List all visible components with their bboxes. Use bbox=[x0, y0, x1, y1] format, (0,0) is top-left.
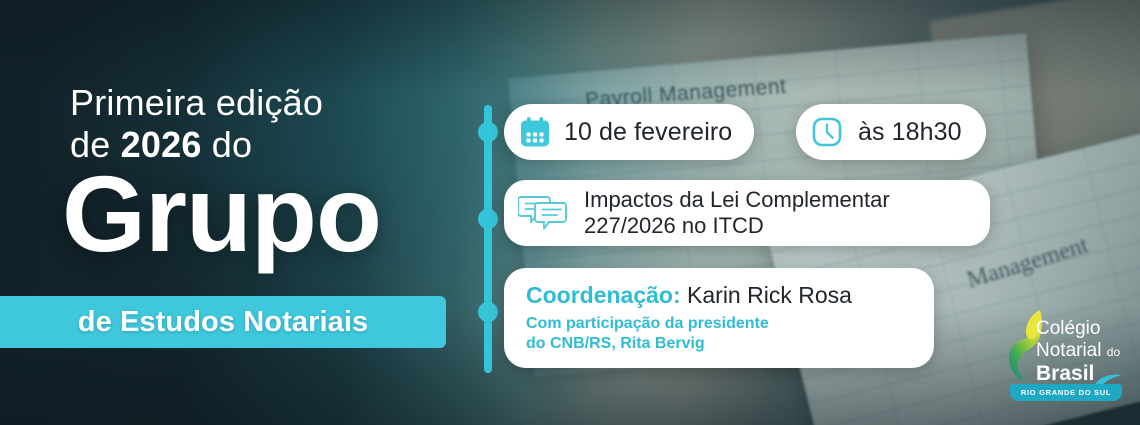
coordination-sub-line-1: Com participação da presidente bbox=[526, 314, 769, 334]
promo-banner: Payroll Management Management Primeira e… bbox=[0, 0, 1140, 425]
logo-line-2: Notarial do bbox=[1036, 340, 1120, 363]
clock-icon bbox=[810, 115, 844, 149]
headline-line-1: Primeira edição bbox=[70, 82, 323, 124]
logo-ribbon: RIO GRANDE DO SUL bbox=[1010, 384, 1122, 401]
time-pill-label: às 18h30 bbox=[858, 118, 962, 147]
subtitle-bar: de Estudos Notariais bbox=[0, 296, 446, 348]
subtitle-bar-label: de Estudos Notariais bbox=[78, 306, 368, 339]
date-pill: 10 de fevereiro bbox=[504, 104, 754, 160]
title-grupo: Grupo bbox=[62, 160, 381, 268]
logo-line-2-main: Notarial bbox=[1036, 340, 1101, 361]
chat-bubbles-icon bbox=[518, 192, 568, 234]
logo-line-2-small: do bbox=[1107, 345, 1120, 359]
logo-colegio-notarial: Colégio Notarial do Brasil RIO GRANDE DO… bbox=[1002, 306, 1130, 411]
coordination-label: Coordenação: bbox=[526, 282, 681, 308]
logo-line-1: Colégio bbox=[1036, 318, 1120, 340]
calendar-icon bbox=[518, 115, 552, 149]
timeline-dot-date bbox=[478, 122, 498, 142]
timeline-dot-topic bbox=[478, 209, 498, 229]
topic-pill-text: Impactos da Lei Complementar 227/2026 no… bbox=[584, 187, 890, 239]
topic-pill-line-1: Impactos da Lei Complementar bbox=[584, 187, 890, 213]
coordination-name: Karin Rick Rosa bbox=[687, 282, 852, 308]
date-pill-label: 10 de fevereiro bbox=[564, 118, 732, 147]
time-pill: às 18h30 bbox=[796, 104, 986, 160]
timeline-line bbox=[484, 105, 492, 373]
timeline-dot-coordination bbox=[478, 302, 498, 322]
logo-ribbon-label: RIO GRANDE DO SUL bbox=[1021, 388, 1111, 397]
coordination-main-line: Coordenação: Karin Rick Rosa bbox=[526, 282, 852, 309]
topic-pill-line-2: 227/2026 no ITCD bbox=[584, 213, 890, 239]
topic-pill: Impactos da Lei Complementar 227/2026 no… bbox=[504, 180, 990, 246]
coordination-pill: Coordenação: Karin Rick Rosa Com partici… bbox=[504, 268, 934, 368]
coordination-sub-line-2: do CNB/RS, Rita Bervig bbox=[526, 334, 705, 354]
